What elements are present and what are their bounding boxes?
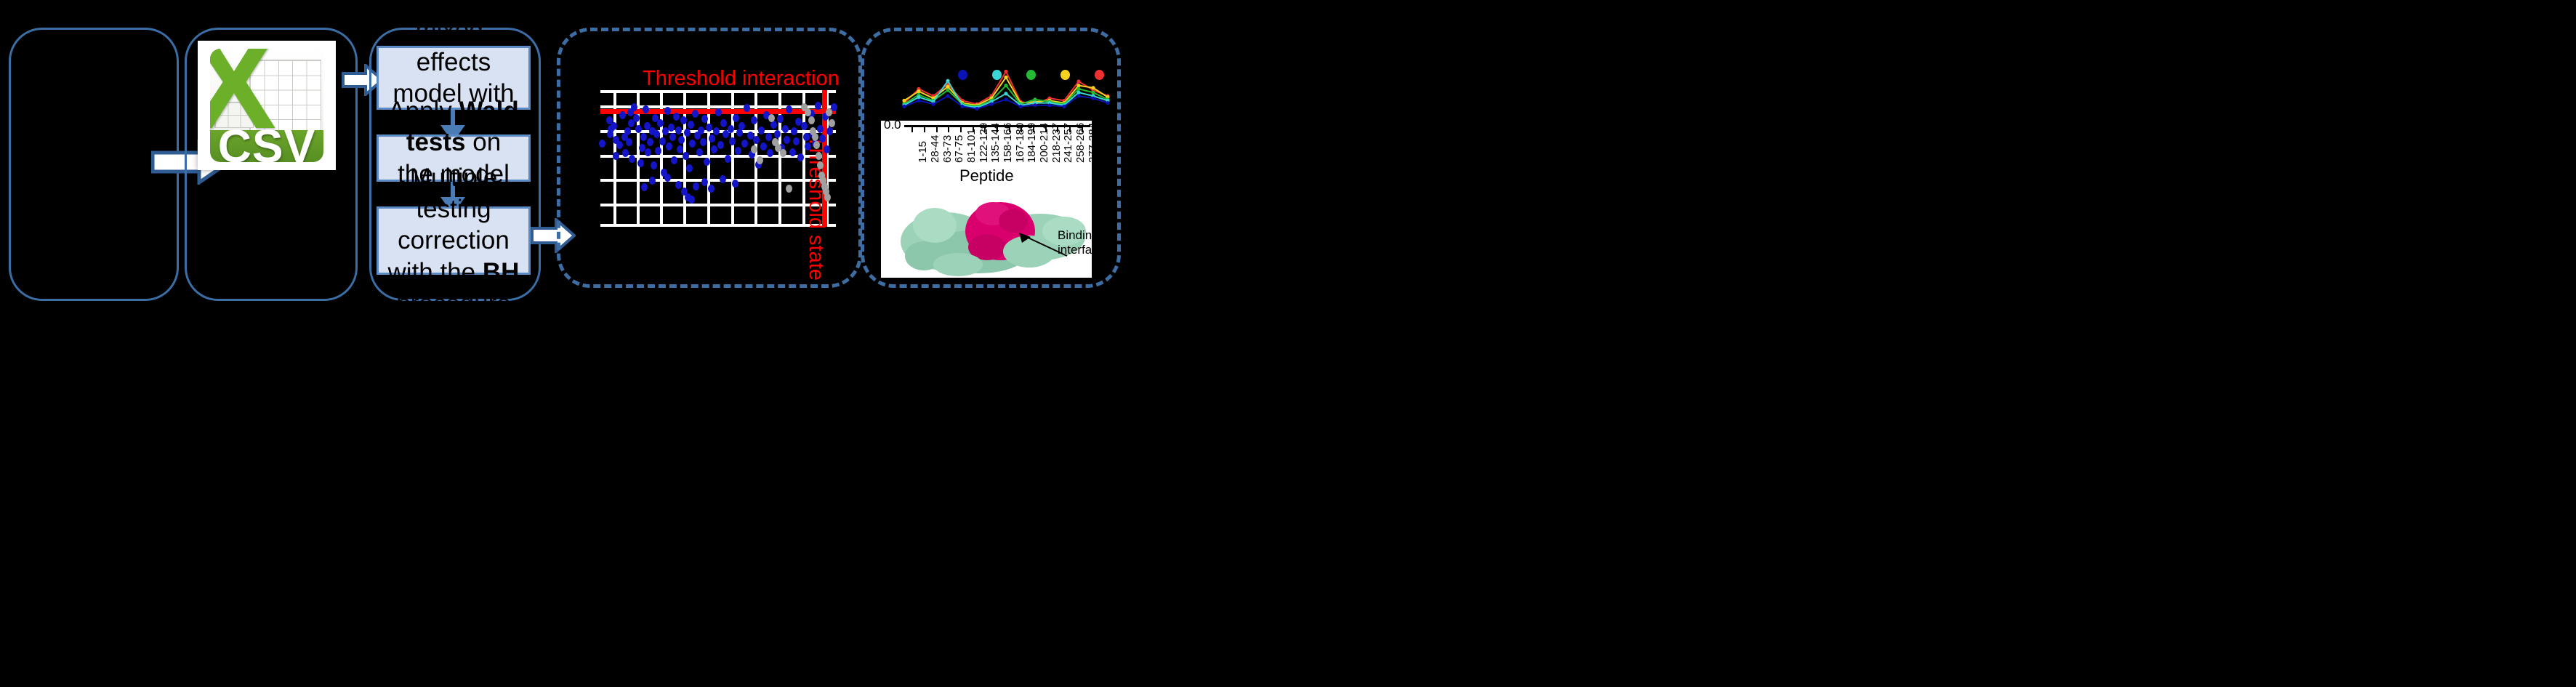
peptide-tick [960, 127, 962, 132]
peptide-tick-label: 158-166 [1002, 123, 1014, 163]
step-wald-pre: Apply [388, 97, 459, 125]
binding-label-line2: interface [1058, 243, 1092, 257]
line-marker [1062, 105, 1066, 108]
step-bh-bold: BH [483, 258, 520, 286]
peptide-tick-label: 1-15 [917, 141, 929, 163]
line-marker [1033, 97, 1037, 101]
scatter-point [684, 129, 691, 137]
legend-dot [1060, 70, 1070, 80]
peptide-tick [1021, 127, 1022, 132]
scatter-point [760, 142, 767, 150]
peptide-tick-label: 184-199 [1026, 123, 1038, 163]
peptide-tick [997, 127, 998, 132]
scatter-point [704, 158, 710, 166]
scatter-point [619, 111, 626, 119]
scatter-point [659, 137, 666, 145]
scatter-point [616, 141, 623, 149]
scatter-point [675, 181, 682, 189]
grid-line [600, 204, 836, 206]
scatter-point [657, 119, 664, 127]
scatter-point [789, 148, 796, 156]
scatter-point [686, 164, 693, 172]
csv-extension-band: CSV [210, 130, 323, 162]
scatter-point [709, 134, 715, 142]
scatter-point [700, 138, 707, 146]
scatter-point [664, 107, 671, 115]
scatter-point [826, 127, 833, 135]
scatter-point [698, 126, 704, 134]
csv-extension-label: CSV [218, 119, 316, 162]
line-marker [1004, 97, 1007, 101]
line-marker [902, 105, 906, 108]
line-marker [917, 95, 920, 99]
scatter-point [770, 121, 777, 129]
line-marker [1076, 91, 1080, 95]
scatter-point [751, 145, 757, 153]
step-bh-post: procedure [396, 289, 511, 318]
peptide-tick-label: 67-75 [953, 135, 965, 163]
scatter-point [637, 159, 644, 167]
scatter-point [677, 145, 683, 153]
threshold-interaction-label: Threshold interaction [643, 67, 840, 91]
step-bh-line1: Multiple testing [410, 164, 498, 223]
scatter-point [803, 133, 810, 141]
peptide-tick [1082, 127, 1083, 132]
grid-line [600, 224, 836, 227]
peptide-tick [948, 127, 949, 132]
scatter-point [668, 124, 675, 132]
scatter-point [673, 113, 680, 121]
scatter-point [711, 145, 717, 153]
peptide-tick [1069, 127, 1071, 132]
scatter-point [753, 136, 760, 144]
scatter-point [765, 133, 772, 141]
scatter-point [729, 137, 736, 145]
excel-x-icon: X [214, 53, 253, 117]
scatter-point [782, 125, 789, 133]
line-marker [946, 88, 949, 92]
scatter-point [666, 142, 672, 150]
line-marker [902, 99, 906, 103]
scatter-point [641, 183, 648, 191]
scatter-point [725, 155, 731, 163]
peptide-tick-label: 258-266 [1074, 123, 1087, 163]
scatter-point [717, 141, 724, 149]
line-marker [1106, 101, 1109, 105]
scatter-point [680, 116, 687, 124]
structure-result-card: 0.0 1-1528-4463-7367-7581-101122-129135-… [881, 121, 1092, 278]
step-multiple-testing[interactable]: Multiple testing correction with the BH … [377, 206, 531, 275]
legend-dot [1026, 70, 1036, 80]
scatter-point [793, 137, 800, 145]
scatter-point [613, 152, 619, 160]
line-marker [975, 107, 978, 111]
scatter-point [826, 108, 832, 116]
scatter-point [599, 140, 605, 148]
binding-label-line1: Binding [1058, 228, 1092, 242]
legend-dot [992, 70, 1002, 80]
scatter-point [720, 119, 727, 127]
peptide-tick-label: 122-129 [978, 123, 990, 163]
legend-dot [1095, 70, 1104, 80]
line-marker [931, 103, 935, 106]
scatter-point [624, 127, 631, 135]
scatter-point [633, 114, 640, 122]
peptide-tick [936, 127, 938, 132]
volcano-plot: Threshold interaction Threshold state [600, 90, 836, 227]
peptide-tick-label: 241-257 [1062, 123, 1074, 163]
scatter-point [692, 110, 699, 118]
scatter-point [808, 116, 815, 124]
scatter-point [706, 124, 712, 132]
scatter-point [751, 116, 757, 124]
line-marker [1004, 84, 1007, 87]
line-marker [946, 94, 949, 97]
line-marker [1091, 86, 1095, 89]
scatter-point [669, 133, 676, 141]
peptide-tick-label: 81-101 [965, 129, 978, 163]
line-marker [1047, 103, 1051, 107]
csv-file-icon: X CSV [198, 41, 336, 170]
peptide-axis-title: Peptide [959, 166, 1014, 185]
line-marker [946, 85, 949, 89]
scatter-point [696, 148, 703, 156]
step-fit-model-line1: Fit a linear mixed- [394, 0, 512, 44]
line-marker [1076, 87, 1080, 91]
peptide-tick-label: 28-44 [929, 135, 941, 163]
line-marker [1091, 91, 1095, 95]
scatter-point [768, 114, 775, 122]
scatter-point [647, 138, 653, 146]
scatter-point [816, 152, 822, 160]
scatter-point [678, 136, 685, 144]
scatter-point [640, 133, 647, 141]
grid-line [600, 90, 836, 93]
scatter-point [757, 156, 763, 164]
scatter-point [801, 122, 808, 130]
scatter-point [689, 140, 696, 148]
scatter-point [784, 136, 790, 144]
line-marker [1091, 97, 1095, 100]
scatter-point [829, 119, 835, 127]
grid-line [600, 179, 836, 182]
scatter-point [693, 182, 699, 190]
scatter-point [631, 103, 637, 111]
scatter-point [701, 178, 708, 186]
scatter-point [817, 125, 824, 133]
peptide-tick [1009, 127, 1010, 132]
scatter-point [683, 152, 689, 160]
step-bh-line2: correction [398, 226, 510, 254]
scatter-point [741, 140, 748, 148]
peptide-tick-label: 167-180 [1014, 123, 1026, 163]
peptide-tick [1045, 127, 1047, 132]
scatter-point [812, 133, 818, 141]
scatter-point [626, 138, 632, 146]
binding-interface-annotation: Binding interface [1058, 228, 1092, 257]
peptide-tick-label: 200-214 [1038, 123, 1050, 163]
line-marker [917, 89, 920, 93]
scatter-point [708, 185, 715, 193]
scatter-point [735, 147, 741, 155]
peptide-tick [1057, 127, 1058, 132]
line-marker [1033, 103, 1037, 107]
line-marker [917, 99, 920, 103]
peptide-tick-label: 63-73 [941, 135, 954, 163]
peptide-tick [911, 127, 913, 132]
peptide-tick [973, 127, 974, 132]
scatter-point [611, 122, 617, 130]
peptide-tick-label: 277-284 [1087, 123, 1092, 163]
scatter-point [643, 105, 649, 113]
scatter-point [738, 122, 745, 130]
peptide-tick [924, 127, 925, 132]
scatter-point [736, 129, 743, 137]
step-bh-pre: with the [388, 258, 483, 286]
line-marker [1076, 94, 1080, 97]
scatter-point [651, 161, 657, 169]
line-marker [1076, 84, 1080, 87]
step-wald-post: on [466, 128, 502, 156]
legend-dot [958, 70, 967, 80]
scatter-point [671, 156, 677, 164]
scatter-point [688, 196, 695, 204]
scatter-point [824, 145, 830, 153]
peptide-tick-label: 218-237 [1050, 123, 1063, 163]
scatter-point [732, 180, 738, 188]
scatter-point [720, 175, 726, 183]
peptide-tick [984, 127, 986, 132]
scatter-point [733, 114, 739, 122]
line-marker [1018, 105, 1022, 108]
line-marker [989, 103, 993, 106]
scatter-point [786, 185, 792, 193]
scatter-point [675, 126, 682, 134]
scatter-point [688, 121, 694, 129]
line-marker [1004, 92, 1007, 95]
scatter-point [713, 127, 720, 135]
scatter-point [815, 102, 821, 110]
scatter-point [791, 127, 797, 135]
scatter-point [758, 126, 765, 134]
peptide-tick [1033, 127, 1034, 132]
scatter-point [629, 155, 635, 163]
scatter-point [715, 108, 722, 116]
peptide-tick-label: 135-144 [989, 123, 1002, 163]
csv-icon-body: X CSV [210, 49, 323, 163]
chart-legend [900, 70, 1112, 83]
workflow-diagram: X CSV Fit a linear mixed- effects model … [0, 0, 2576, 687]
scatter-point [824, 193, 831, 201]
y-tick-label: 0.0 [884, 121, 901, 132]
scatter-point [819, 134, 826, 142]
scatter-point [728, 125, 734, 133]
scatter-point [777, 115, 784, 123]
line-marker [960, 105, 964, 108]
scatter-point [649, 177, 656, 185]
